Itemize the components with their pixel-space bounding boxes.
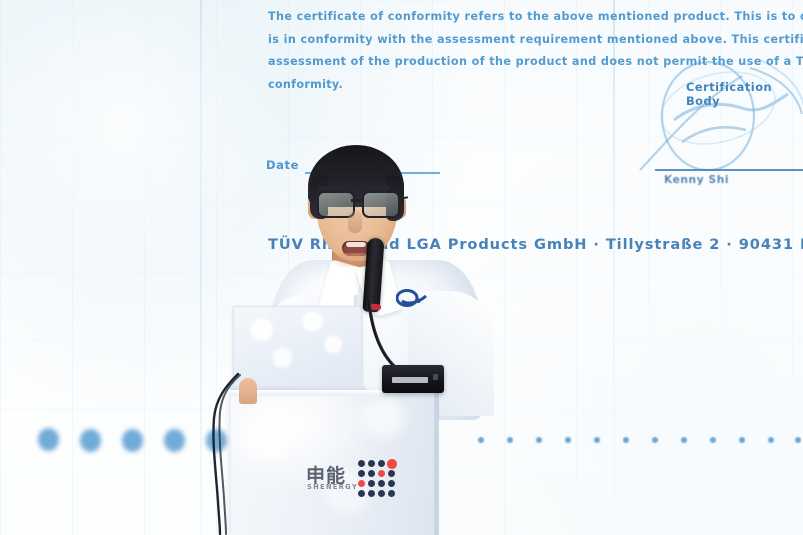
certificate-line-1: The certificate of conformity refers to … bbox=[268, 6, 803, 29]
photo-canvas: The certificate of conformity refers to … bbox=[0, 0, 803, 535]
certificate-line-2: is in conformity with the assessment req… bbox=[268, 29, 803, 52]
brand-dot-grid-icon bbox=[358, 460, 398, 496]
svg-text:s: s bbox=[416, 296, 421, 305]
microphone-base-indicator bbox=[433, 374, 438, 380]
glasses-temple-right bbox=[398, 196, 408, 200]
glasses-bridge bbox=[351, 199, 364, 202]
podium-brand-logo: 申能 SHENERGY bbox=[306, 458, 398, 498]
laptop-screen[interactable] bbox=[233, 306, 362, 390]
lens-right bbox=[362, 191, 400, 218]
power-cable bbox=[176, 372, 246, 535]
podium-right-edge bbox=[434, 392, 439, 535]
screen-light-hotspot bbox=[0, 0, 290, 290]
microphone-base-label bbox=[392, 377, 428, 383]
brand-name-english: SHENERGY bbox=[307, 483, 358, 491]
handwritten-signature-icon bbox=[630, 58, 803, 178]
speaker-nose bbox=[348, 211, 362, 233]
signature-rule bbox=[655, 169, 803, 171]
speaker-teeth bbox=[346, 242, 366, 247]
signatory-name: Kenny Shi bbox=[664, 174, 729, 186]
